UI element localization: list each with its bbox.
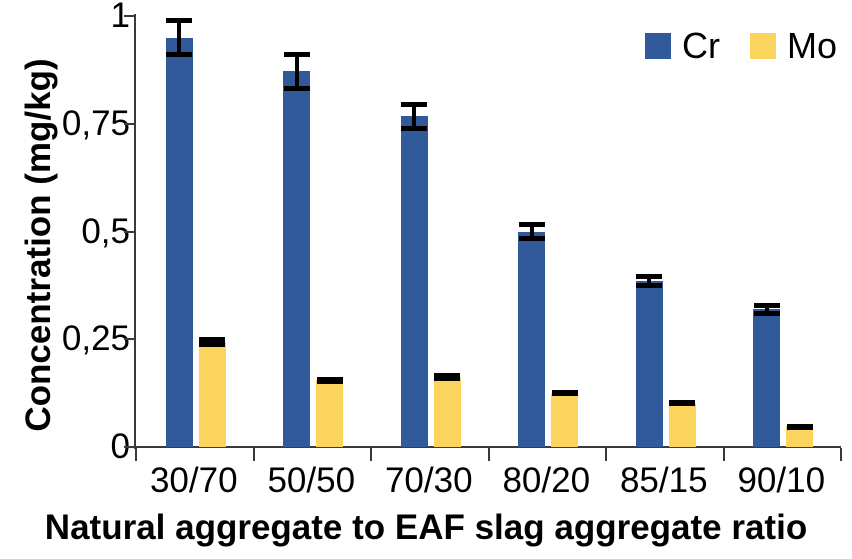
error-bar-cr-85-15 <box>636 274 663 289</box>
y-axis-tick-label: 0,5 <box>20 214 130 249</box>
bar-cr-30-70 <box>166 38 193 447</box>
x-axis-tick-mark <box>840 448 842 461</box>
error-bar-cr-80-20 <box>518 222 545 241</box>
y-axis-tick-label: 0,75 <box>20 106 130 141</box>
error-bar-cap-bottom <box>166 52 192 57</box>
x-axis-tick-label: 70/30 <box>370 462 488 501</box>
error-bar-cap-top <box>519 222 545 227</box>
error-bar-cr-50-50 <box>283 52 310 91</box>
error-bar-cap-bottom <box>636 283 662 288</box>
error-bar-cap-bottom <box>754 311 780 316</box>
error-bar-mo-85-15 <box>669 400 696 406</box>
error-bar-cap-bottom <box>552 391 578 396</box>
x-axis-tick-label: 85/15 <box>605 462 723 501</box>
x-axis-tick-label: 30/70 <box>135 462 253 501</box>
legend-label: Cr <box>682 28 720 64</box>
bar-cr-90-10 <box>753 309 780 447</box>
y-axis-tick-label: 0,25 <box>20 321 130 356</box>
x-axis-tick-labels: 30/7050/5070/3080/2085/1590/10 <box>135 462 840 504</box>
bar-mo-80-20 <box>551 393 578 447</box>
bar-cr-85-15 <box>636 281 663 447</box>
error-bar-cap-top <box>199 337 225 342</box>
error-bar-cap-top <box>401 102 427 107</box>
x-axis-tick-mark <box>723 448 725 461</box>
plot-area <box>135 16 840 447</box>
bar-cr-70-30 <box>401 116 428 447</box>
x-axis-tick-label: 50/50 <box>253 462 371 501</box>
bar-mo-30-70 <box>199 342 226 447</box>
bar-mo-85-15 <box>669 403 696 447</box>
error-bar-cap-top <box>754 303 780 308</box>
error-bar-cap-bottom <box>317 379 343 384</box>
error-bar-cap-bottom <box>434 376 460 381</box>
error-bar-mo-80-20 <box>551 390 578 396</box>
error-bar-cap-bottom <box>519 236 545 241</box>
error-bar-cap-top <box>166 18 192 23</box>
error-bar-cr-70-30 <box>401 102 428 130</box>
error-bar-cap-bottom <box>284 86 310 91</box>
bar-chart: Concentration (mg/kg) 00,250,50,751 30/7… <box>0 0 852 559</box>
error-bar-cap-bottom <box>401 126 427 131</box>
error-bar-cr-30-70 <box>166 18 193 57</box>
error-bar-mo-50-50 <box>316 377 343 384</box>
y-axis-tick-mark <box>124 446 135 448</box>
x-axis-title: Natural aggregate to EAF slag aggregate … <box>0 508 852 548</box>
error-bar-cap-bottom <box>199 342 225 347</box>
bar-cr-50-50 <box>283 71 310 447</box>
chart-legend: CrMo <box>645 28 837 64</box>
y-axis-tick-mark <box>124 15 135 17</box>
legend-label: Mo <box>787 28 837 64</box>
error-bar-mo-90-10 <box>786 424 813 430</box>
error-bar-mo-30-70 <box>199 337 226 347</box>
error-bar-cap-top <box>284 52 310 57</box>
error-bar-mo-70-30 <box>434 373 461 381</box>
legend-swatch-icon <box>750 33 776 59</box>
x-axis-tick-mark <box>605 448 607 461</box>
error-bar-cap-bottom <box>787 425 813 430</box>
bar-mo-50-50 <box>316 380 343 447</box>
y-axis-tick-label: 0 <box>20 429 130 464</box>
x-axis-tick-mark <box>488 448 490 461</box>
error-bar-cap-bottom <box>669 401 695 406</box>
x-axis-tick-label: 90/10 <box>723 462 841 501</box>
legend-item-mo[interactable]: Mo <box>750 28 837 64</box>
legend-item-cr[interactable]: Cr <box>645 28 720 64</box>
legend-swatch-icon <box>645 33 671 59</box>
bar-cr-80-20 <box>518 232 545 448</box>
x-axis-tick-mark <box>135 448 137 461</box>
error-bar-cr-90-10 <box>753 303 780 316</box>
y-axis-tick-mark <box>124 231 135 233</box>
y-axis-tick-mark <box>124 123 135 125</box>
x-axis-tick-mark <box>370 448 372 461</box>
error-bar-cap-top <box>636 274 662 279</box>
y-axis-tick-mark <box>124 338 135 340</box>
bar-mo-70-30 <box>434 377 461 447</box>
y-axis-tick-labels: 00,250,50,751 <box>18 0 130 470</box>
y-axis-tick-label: 1 <box>20 0 130 33</box>
x-axis-tick-label: 80/20 <box>488 462 606 501</box>
x-axis-tick-mark <box>253 448 255 461</box>
